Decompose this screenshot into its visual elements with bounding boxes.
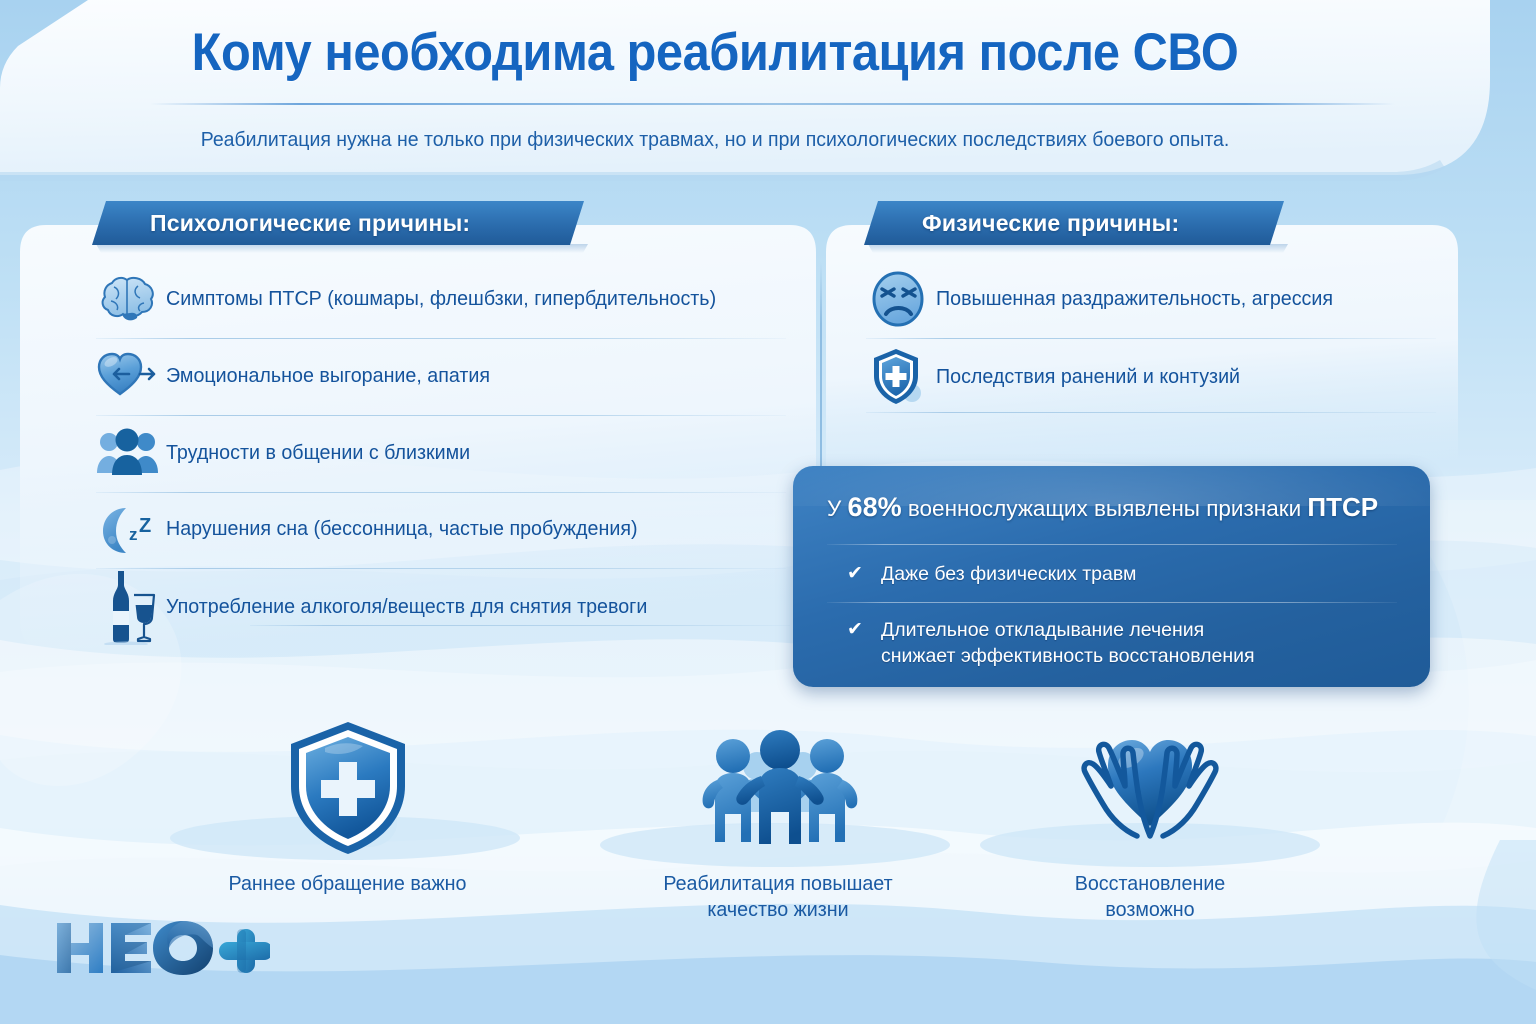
stat-bullet-label: Длительное откладывание лечения снижает … xyxy=(881,618,1255,669)
bottom-caption-line1: Реабилитация повышает xyxy=(663,872,892,895)
stat-percent: 68% xyxy=(848,492,902,522)
bottom-caption-line1: Раннее обращение важно xyxy=(229,872,467,895)
stat-divider-1 xyxy=(827,544,1397,545)
check-icon: ✔ xyxy=(847,618,881,642)
list-item-label: Употребление алкоголя/веществ для снятия… xyxy=(166,595,647,619)
list-item[interactable]: Эмоциональное выгорание, апатия xyxy=(92,345,504,407)
bottom-item-3[interactable]: Восстановление возможно xyxy=(1030,718,1270,922)
list-item[interactable]: Повышенная раздражительность, агрессия xyxy=(862,268,1350,330)
shield-cross-icon xyxy=(862,346,936,408)
list-item-label: Последствия ранений и контузий xyxy=(936,365,1240,389)
bottom-caption-line2: возможно xyxy=(1105,898,1194,921)
psych-banner: Психологические причины: xyxy=(92,201,584,245)
svg-text:Z: Z xyxy=(139,515,151,537)
bottom-caption: Раннее обращение важно xyxy=(220,871,474,897)
bottom-item-2[interactable]: Реабилитация повышает качество жизни xyxy=(648,718,908,922)
shield-cross-big-icon xyxy=(283,845,413,862)
list-item-label: Трудности в общении с близкими xyxy=(166,441,470,465)
stat-bullet: ✔ Даже без физических травм xyxy=(847,562,1136,588)
list-item-label: Повышенная раздражительность, агрессия xyxy=(936,287,1333,311)
stat-prefix: У xyxy=(827,496,848,521)
svg-text:z: z xyxy=(129,525,138,544)
row-divider xyxy=(866,412,1436,413)
stat-divider-2 xyxy=(827,602,1397,603)
stat-rest: военнослужащих выявлены признаки xyxy=(902,496,1308,521)
phys-banner: Физические причины: xyxy=(864,201,1284,245)
row-divider xyxy=(96,568,786,569)
people-trio-icon xyxy=(691,845,866,862)
check-icon: ✔ xyxy=(847,562,881,586)
psych-banner-label: Психологические причины: xyxy=(150,210,470,237)
list-item[interactable]: Употребление алкоголя/веществ для снятия… xyxy=(92,572,667,642)
row-divider xyxy=(96,492,786,493)
stat-bullet-label: Даже без физических травм xyxy=(881,562,1136,588)
moon-sleep-icon: z Z xyxy=(92,502,166,556)
list-item[interactable]: z Z Нарушения сна (бессонница, частые пр… xyxy=(92,498,657,560)
bottom-caption-line2: качество жизни xyxy=(707,898,848,921)
stat-tail: ПТСР xyxy=(1307,492,1378,522)
phys-banner-label: Физические причины: xyxy=(922,210,1179,237)
list-item-label: Эмоциональное выгорание, апатия xyxy=(166,364,490,388)
bottom-item-1[interactable]: Раннее обращение важно xyxy=(215,718,480,897)
logo[interactable] xyxy=(55,915,270,986)
row-divider xyxy=(96,338,786,339)
list-item-label: Нарушения сна (бессонница, частые пробуж… xyxy=(166,517,638,541)
statistic-headline: У 68% военнослужащих выявлены признаки П… xyxy=(827,492,1410,523)
bottom-caption: Реабилитация повышает качество жизни xyxy=(653,871,903,922)
brain-icon xyxy=(92,273,166,325)
stat-bullet-line2: снижает эффективность восстановления xyxy=(881,645,1255,667)
bottom-caption: Восстановление возможно xyxy=(1035,871,1265,922)
bottle-glass-icon xyxy=(92,569,166,645)
stat-bullet-line1: Длительное откладывание лечения xyxy=(881,619,1204,641)
row-divider xyxy=(866,338,1436,339)
page-subtitle: Реабилитация нужна не только при физичес… xyxy=(36,128,1395,152)
people-group-icon xyxy=(92,428,166,478)
list-item[interactable]: Трудности в общении с близкими xyxy=(92,422,483,484)
list-item[interactable]: Последствия ранений и контузий xyxy=(862,345,1253,409)
heart-burnout-icon xyxy=(92,350,166,402)
statistic-card: У 68% военнослужащих выявлены признаки П… xyxy=(793,466,1430,687)
list-item[interactable]: Симптомы ПТСР (кошмары, флешбзки, гиперб… xyxy=(92,268,739,330)
bottom-caption-line1: Восстановление xyxy=(1075,872,1226,895)
row-divider xyxy=(96,415,786,416)
stat-bullet: ✔ Длительное откладывание лечения снижае… xyxy=(847,618,1255,669)
hands-heart-icon xyxy=(1063,845,1238,862)
angry-face-icon xyxy=(862,270,936,328)
title-divider xyxy=(150,103,1395,105)
psych-banner-shadow xyxy=(96,244,588,253)
list-item-label: Симптомы ПТСР (кошмары, флешбзки, гиперб… xyxy=(166,287,716,311)
page-title: Кому необходима реабилитация после СВО xyxy=(57,22,1373,83)
phys-banner-shadow xyxy=(868,244,1288,253)
